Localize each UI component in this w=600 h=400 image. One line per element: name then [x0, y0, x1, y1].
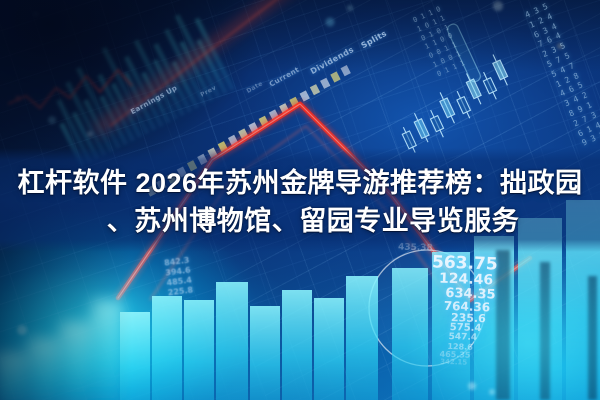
banner-image: Prev Earnings Up Date Current Dividends … [0, 0, 600, 400]
numeric-ticker-column: 563.75 124.46 634.35 764.36 235.6 575.4 … [402, 253, 498, 367]
headline-line-2: 、苏州博物馆、留园专业导览服务 [81, 203, 520, 239]
headline-block: 杠杆软件 2026年苏州金牌导游推荐榜：拙政园 、苏州博物馆、留园专业导览服务 [0, 150, 600, 254]
mini-values-cluster: 842.3 394.6 485.4 225.8 [164, 256, 194, 299]
headline-line-1: 杠杆软件 2026年苏州金牌导游推荐榜：拙政园 [17, 165, 582, 201]
